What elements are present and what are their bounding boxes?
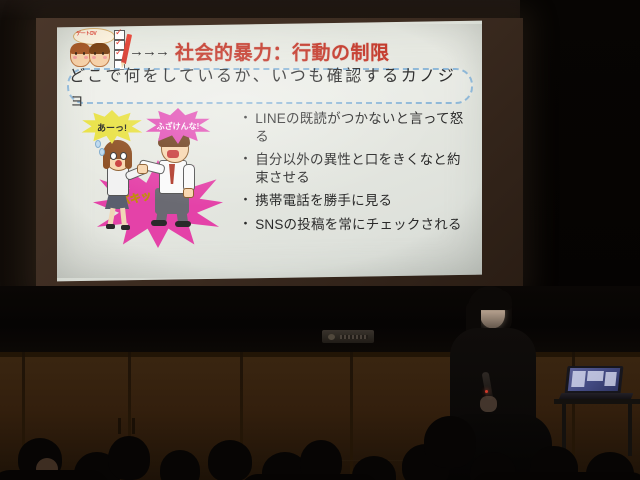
boy-shoe-1	[151, 220, 167, 226]
cabinet-handle	[132, 418, 135, 434]
logo-eye-l1	[75, 52, 77, 55]
bullet-marker: ・	[239, 110, 252, 127]
slide-subtitle-box: どこで何をしているか、いつも確認するカノジョ	[67, 68, 473, 104]
presentation-slide: デートDV ✓ ✓ ✓	[57, 21, 482, 282]
bullet-list: ・ LINEの既読がつかないと言って怒る ・ 自分以外の異性と口をきくなと約束さ…	[239, 110, 474, 239]
right-dark-area	[520, 0, 640, 300]
sweat-drop-2	[99, 148, 105, 156]
bullet-text: 自分以外の異性と口をきくなと約束させる	[255, 151, 474, 186]
girl-shoe-1	[106, 224, 115, 229]
projector-vent	[340, 335, 368, 339]
presenter-hand	[480, 396, 497, 412]
list-item: ・ SNSの投稿を常にチェックされる	[239, 216, 474, 234]
laptop-window-3	[604, 372, 616, 386]
logo-cheek-r2	[103, 56, 107, 59]
projector-lens	[328, 334, 335, 340]
audience-head	[208, 440, 252, 480]
girl-mouth	[115, 160, 122, 167]
logo-eye-l2	[83, 52, 85, 55]
audience-shoulders	[0, 470, 110, 480]
list-item: ・ 携帯電話を勝手に見る	[239, 192, 474, 210]
logo-hair-right	[89, 43, 110, 54]
cabinet-handle	[118, 418, 121, 434]
boy-hand-grab	[137, 164, 148, 174]
sweat-drop-1	[95, 140, 101, 148]
girl-eye-2	[120, 152, 127, 160]
laptop-window-1	[571, 371, 586, 387]
boy-shoe-2	[175, 221, 191, 227]
girl-shoe-2	[121, 225, 130, 230]
boy-hand-fist	[183, 188, 194, 198]
logo-eye-r1	[94, 52, 96, 55]
laptop-screen	[568, 368, 620, 391]
projector	[322, 330, 374, 343]
bullet-marker: ・	[239, 216, 252, 233]
laptop	[560, 366, 634, 408]
logo-cheek-r1	[92, 56, 96, 59]
boy-mouth-shouting	[167, 150, 179, 158]
laptop-window-2	[587, 371, 604, 381]
slide-subtitle: どこで何をしているか、いつも確認するカノジョ	[69, 62, 471, 110]
audience-shoulders	[240, 474, 380, 480]
auditorium-photo: デートDV ✓ ✓ ✓	[0, 0, 640, 480]
bullet-marker: ・	[239, 192, 252, 209]
logo-hair-left	[70, 43, 91, 54]
speech-bubble-yellow: あーっ!	[81, 110, 143, 144]
girl-eye-1	[110, 152, 117, 160]
microphone-led	[485, 390, 488, 393]
arrows-icon: →→→	[129, 43, 168, 60]
bullet-text: LINEの既読がつかないと言って怒る	[255, 110, 474, 145]
bullet-marker: ・	[239, 151, 252, 168]
logo-eye-r2	[102, 52, 104, 55]
list-item: ・ LINEの既読がつかないと言って怒る	[239, 110, 474, 145]
speech-bubble-magenta: ふざけんな!	[145, 108, 211, 144]
audience-head	[108, 436, 150, 480]
stand-leg-2	[628, 404, 632, 456]
logo-bubble-text: デートDV	[76, 30, 96, 37]
audience-head	[424, 416, 476, 468]
logo-cheek-l2	[84, 56, 88, 59]
slide-title-row: →→→ 社会的暴力：行動の制限	[129, 38, 474, 65]
bullet-text: SNSの投稿を常にチェックされる	[255, 216, 474, 234]
violence-illustration: バキッ	[79, 108, 234, 258]
bullet-text: 携帯電話を勝手に見る	[255, 192, 474, 210]
audience-shoulders	[470, 472, 640, 480]
logo-cheek-l1	[73, 56, 77, 59]
slide-title: 社会的暴力：行動の制限	[175, 38, 390, 65]
list-item: ・ 自分以外の異性と口をきくなと約束させる	[239, 151, 474, 186]
